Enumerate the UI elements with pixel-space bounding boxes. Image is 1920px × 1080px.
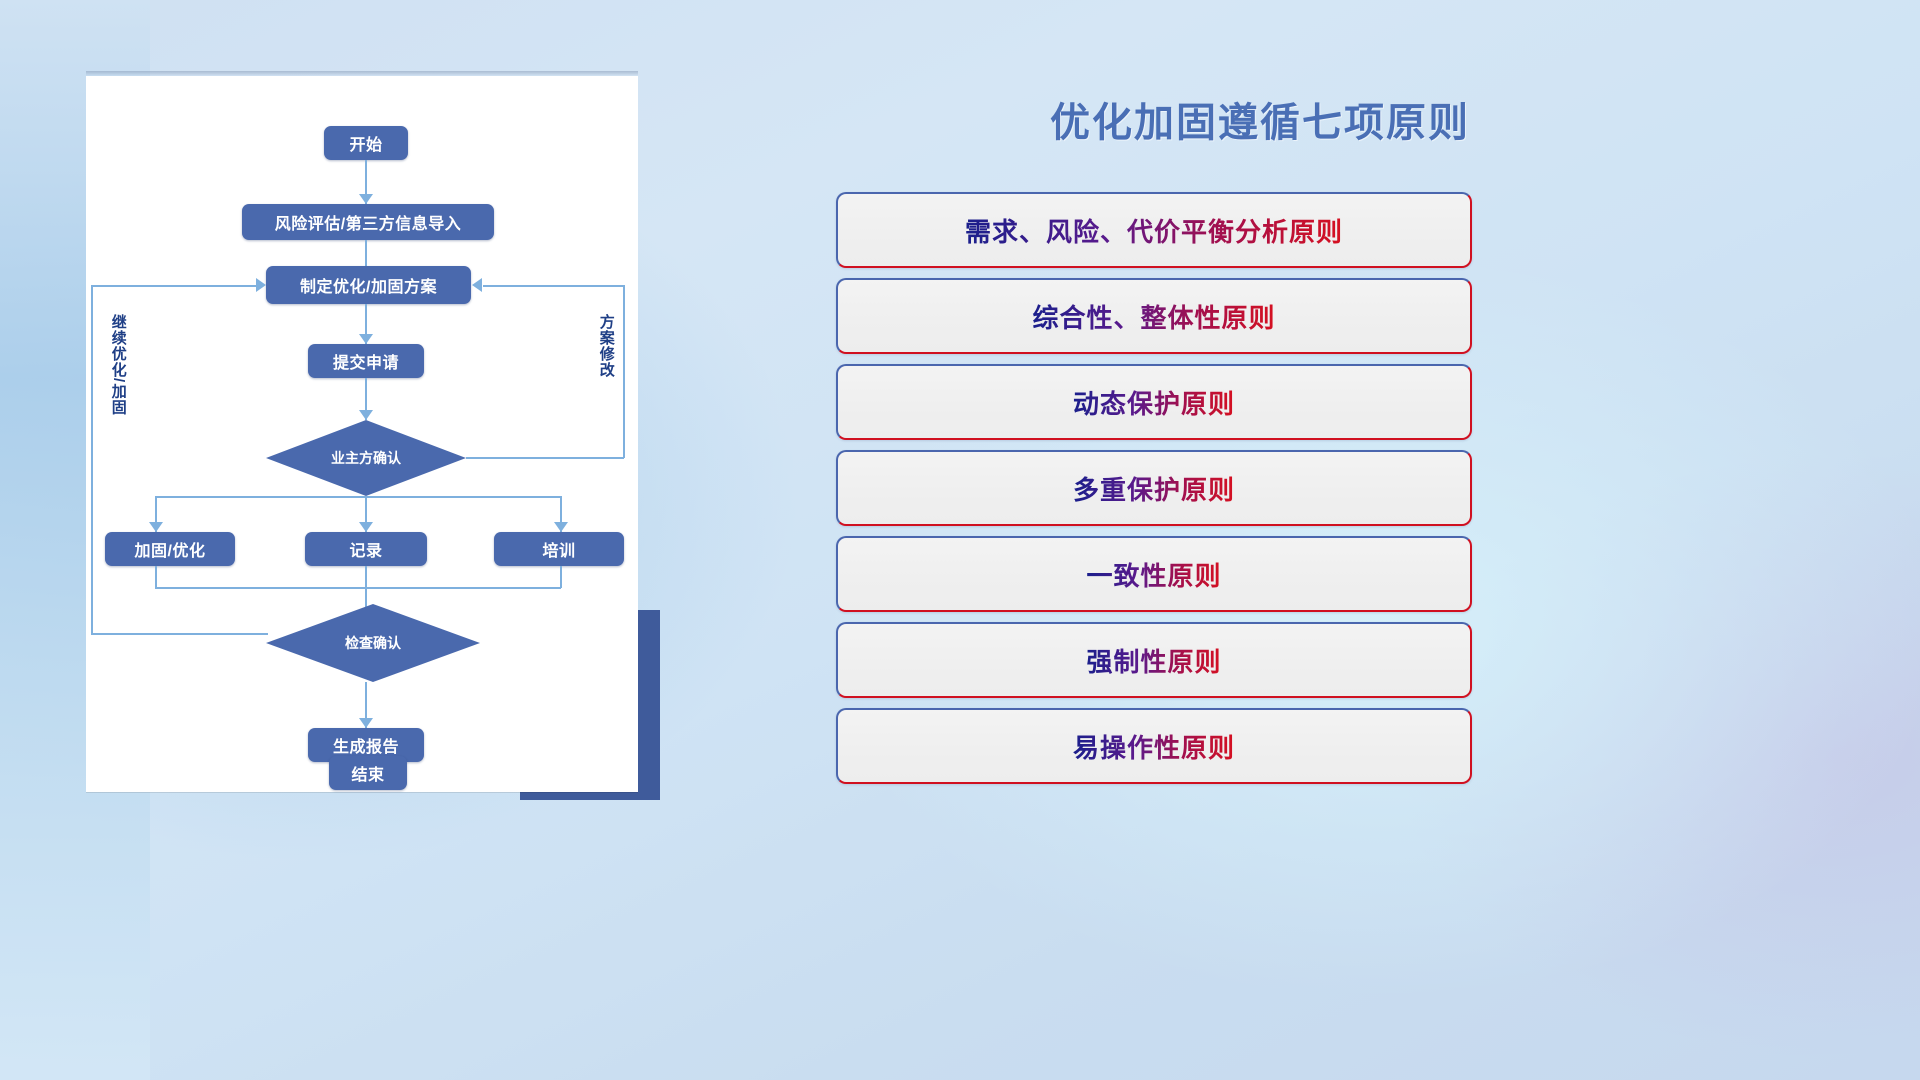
principle-label: 多重保护原则 bbox=[1073, 470, 1235, 507]
connector-left-loop-vertical bbox=[91, 285, 93, 633]
flow-node-risk-assessment[interactable]: 风险评估/第三方信息导入 bbox=[242, 204, 494, 240]
flow-node-label: 加固/优化 bbox=[135, 537, 206, 561]
principles-list: 需求、风险、代价平衡分析原则 综合性、整体性原则 动态保护原则 多重保护原则 一… bbox=[836, 192, 1472, 794]
principle-label: 易操作性原则 bbox=[1073, 728, 1235, 765]
flow-node-label: 制定优化/加固方案 bbox=[300, 273, 437, 297]
arrowhead-down-owner bbox=[359, 410, 373, 420]
flow-node-record[interactable]: 记录 bbox=[305, 532, 427, 566]
arrowhead-down-report bbox=[359, 718, 373, 728]
flowchart-card: 开始 风险评估/第三方信息导入 制定优化/加固方案 提交申请 业主方确认 bbox=[86, 76, 638, 792]
principle-item-4[interactable]: 多重保护原则 bbox=[836, 450, 1472, 526]
connector-reinforce-down bbox=[155, 566, 157, 588]
flow-decision-owner-confirm[interactable]: 业主方确认 bbox=[266, 420, 466, 496]
principle-item-1[interactable]: 需求、风险、代价平衡分析原则 bbox=[836, 192, 1472, 268]
flow-node-end[interactable]: 结束 bbox=[329, 756, 407, 790]
flow-node-label: 风险评估/第三方信息导入 bbox=[275, 210, 461, 234]
flow-node-label: 培训 bbox=[542, 537, 575, 561]
principle-label: 动态保护原则 bbox=[1073, 384, 1235, 421]
flow-node-label: 生成报告 bbox=[333, 733, 399, 757]
arrowhead-down-risk bbox=[359, 194, 373, 204]
flow-node-reinforce-optimize[interactable]: 加固/优化 bbox=[105, 532, 235, 566]
principle-item-6[interactable]: 强制性原则 bbox=[836, 622, 1472, 698]
connector-branch-bus bbox=[155, 496, 561, 498]
arrowhead-left-into-plan bbox=[472, 278, 482, 292]
connector-left-loop-to-plan bbox=[91, 285, 259, 287]
edge-label-plan-revision: 方案修改 bbox=[598, 314, 614, 378]
principle-item-3[interactable]: 动态保护原则 bbox=[836, 364, 1472, 440]
flow-node-label: 开始 bbox=[349, 131, 382, 155]
flow-node-label: 结束 bbox=[351, 761, 384, 785]
connector-right-to-plan bbox=[483, 285, 624, 287]
connector-owner-right bbox=[466, 457, 624, 459]
principle-label: 一致性原则 bbox=[1086, 556, 1221, 593]
flow-node-start[interactable]: 开始 bbox=[324, 126, 408, 160]
slide-canvas: 开始 风险评估/第三方信息导入 制定优化/加固方案 提交申请 业主方确认 bbox=[0, 0, 1920, 1080]
arrowhead-right-into-plan bbox=[256, 278, 266, 292]
arrowhead-down-submit bbox=[359, 334, 373, 344]
connector-training-down bbox=[560, 566, 562, 588]
principle-label: 需求、风险、代价平衡分析原则 bbox=[965, 212, 1343, 249]
flow-node-label: 提交申请 bbox=[333, 349, 399, 373]
flow-decision-check-confirm[interactable]: 检查确认 bbox=[266, 604, 480, 682]
flow-node-submit-application[interactable]: 提交申请 bbox=[308, 344, 424, 378]
arrowhead-down-record bbox=[359, 522, 373, 532]
flow-node-label: 检查确认 bbox=[345, 633, 401, 653]
flow-node-make-plan[interactable]: 制定优化/加固方案 bbox=[266, 266, 471, 304]
flow-node-label: 业主方确认 bbox=[331, 448, 401, 468]
principle-label: 综合性、整体性原则 bbox=[1032, 298, 1275, 335]
connector-right-up bbox=[623, 285, 625, 458]
principle-item-7[interactable]: 易操作性原则 bbox=[836, 708, 1472, 784]
principle-item-5[interactable]: 一致性原则 bbox=[836, 536, 1472, 612]
arrowhead-down-training bbox=[554, 522, 568, 532]
edge-label-continue-optimize: 继续优化/加固 bbox=[110, 314, 126, 415]
principle-label: 强制性原则 bbox=[1086, 642, 1221, 679]
arrowhead-down-reinforce bbox=[149, 522, 163, 532]
flow-node-training[interactable]: 培训 bbox=[494, 532, 624, 566]
panel-title: 优化加固遵循七项原则 bbox=[930, 90, 1590, 148]
principle-item-2[interactable]: 综合性、整体性原则 bbox=[836, 278, 1472, 354]
connector-merge-bus bbox=[155, 587, 561, 589]
flow-node-label: 记录 bbox=[349, 537, 382, 561]
connector-check-left-exit bbox=[91, 633, 268, 635]
